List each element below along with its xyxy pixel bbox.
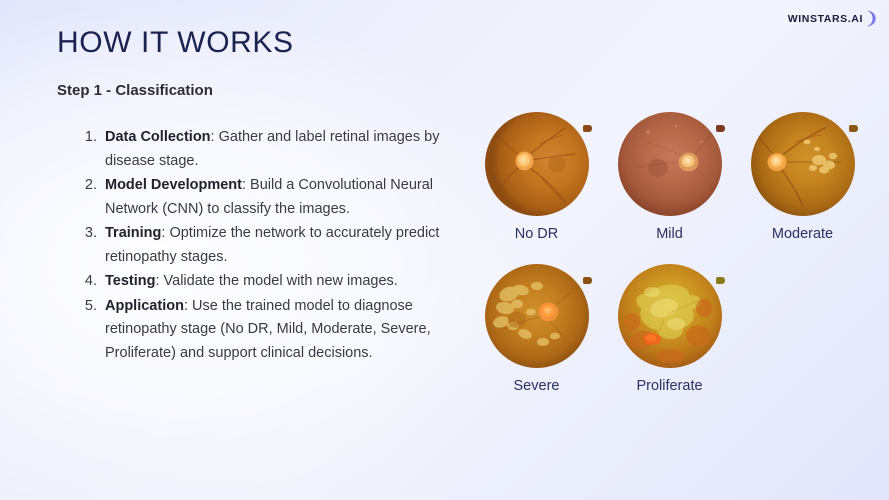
gallery-item-moderate: Moderate [736, 112, 869, 242]
winstars-logo: WINSTARS.AI [788, 9, 881, 28]
slide-canvas: WINSTARS.AI HOW IT WORKS Step 1 - Classi… [0, 0, 889, 500]
list-item-term: Application [105, 298, 184, 314]
list-item-text: Application: Use the trained model to di… [105, 295, 450, 366]
list-item-number: 2. [60, 174, 105, 198]
logo-text: WINSTARS.AI [788, 13, 863, 25]
gallery-item-severe: Severe [470, 264, 603, 394]
gallery-label: No DR [515, 226, 559, 242]
list-item-number: 4. [60, 270, 105, 294]
gallery-row-2: Severe [470, 264, 870, 394]
list-item: 4. Testing: Validate the model with new … [60, 270, 450, 294]
steps-list: 1. Data Collection: Gather and label ret… [60, 126, 450, 366]
list-item-text: Testing: Validate the model with new ima… [105, 270, 450, 294]
list-item-number: 3. [60, 222, 105, 246]
list-item: 2. Model Development: Build a Convolutio… [60, 174, 450, 221]
list-item: 1. Data Collection: Gather and label ret… [60, 126, 450, 173]
gallery-row-1: No DR [470, 112, 870, 242]
list-item-number: 5. [60, 295, 105, 319]
list-item-desc: : Validate the model with new images. [155, 273, 397, 289]
gallery-item-mild: Mild [603, 112, 736, 242]
gallery-label: Severe [514, 378, 560, 394]
retina-gallery: No DR [470, 112, 870, 394]
gallery-label: Moderate [772, 226, 833, 242]
list-item: 3. Training: Optimize the network to acc… [60, 222, 450, 269]
list-item-text: Training: Optimize the network to accura… [105, 222, 450, 269]
retina-fundus-mild [618, 112, 722, 216]
list-item-term: Model Development [105, 177, 242, 193]
crescent-arc-icon [862, 9, 881, 28]
list-item: 5. Application: Use the trained model to… [60, 295, 450, 366]
list-item-number: 1. [60, 126, 105, 150]
retina-fundus-moderate [751, 112, 855, 216]
gallery-label: Proliferate [636, 378, 702, 394]
step-heading: Step 1 - Classification [57, 82, 213, 99]
gallery-label: Mild [656, 226, 683, 242]
page-title: HOW IT WORKS [57, 26, 294, 60]
retina-fundus-severe [485, 264, 589, 368]
list-item-text: Model Development: Build a Convolutional… [105, 174, 450, 221]
list-item-term: Testing [105, 273, 155, 289]
gallery-item-proliferate: Proliferate [603, 264, 736, 394]
gallery-item-no-dr: No DR [470, 112, 603, 242]
list-item-term: Data Collection [105, 129, 211, 145]
list-item-term: Training [105, 225, 161, 241]
list-item-text: Data Collection: Gather and label retina… [105, 126, 450, 173]
retina-fundus-no-dr [485, 112, 589, 216]
retina-fundus-proliferate [618, 264, 722, 368]
